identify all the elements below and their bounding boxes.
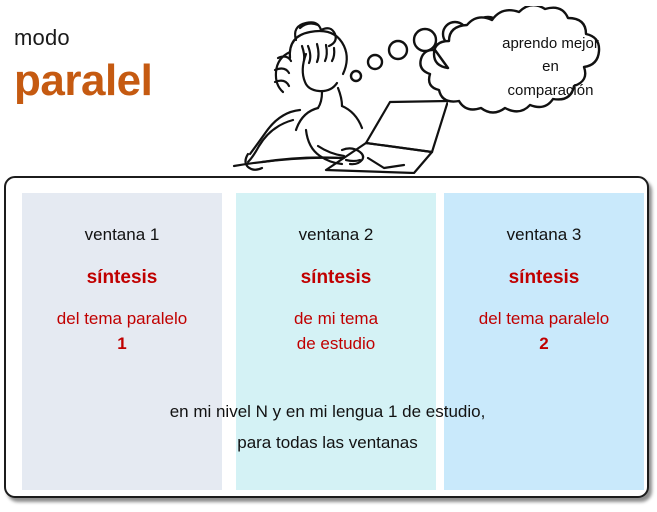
- thought-dot-2: [368, 55, 382, 69]
- windows-columns: ventana 1 síntesis del tema paralelo 1 v…: [22, 193, 633, 490]
- window-column-1-strong: síntesis: [22, 267, 222, 289]
- window-column-2-body: de mi tema de estudio: [236, 307, 436, 356]
- window-column-3-strong: síntesis: [444, 267, 644, 289]
- window-column-1-body: del tema paralelo 1: [22, 307, 222, 356]
- thought-dot-3: [389, 41, 407, 59]
- window-column-2-body-line-2: de estudio: [236, 332, 436, 357]
- window-column-1-heading: ventana 1: [22, 225, 222, 245]
- thought-bubble-line-1: aprendo mejor: [468, 32, 633, 55]
- window-column-2[interactable]: ventana 2 síntesis de mi tema de estudio: [236, 193, 436, 490]
- window-column-2-body-line-1: de mi tema: [236, 307, 436, 332]
- header-area: modo paralel: [0, 0, 657, 175]
- window-column-3[interactable]: ventana 3 síntesis del tema paralelo 2: [444, 193, 644, 490]
- thought-bubble-text: aprendo mejor en comparación: [468, 32, 633, 102]
- window-column-3-body-line-1: del tema paralelo: [444, 307, 644, 332]
- thought-dot-4: [414, 29, 436, 51]
- title-block: modo paralel: [14, 26, 234, 104]
- window-column-2-strong: síntesis: [236, 267, 436, 289]
- mode-value: paralel: [14, 58, 234, 104]
- window-column-3-body: del tema paralelo 2: [444, 307, 644, 356]
- thought-bubble-line-2: en: [468, 55, 633, 78]
- windows-panel: ventana 1 síntesis del tema paralelo 1 v…: [4, 176, 649, 498]
- thought-dot-1: [351, 71, 361, 81]
- window-column-3-body-line-2: 2: [444, 332, 644, 357]
- window-column-3-heading: ventana 3: [444, 225, 644, 245]
- mode-label: modo: [14, 26, 234, 50]
- window-column-1[interactable]: ventana 1 síntesis del tema paralelo 1: [22, 193, 222, 490]
- window-column-1-body-line-2: 1: [22, 332, 222, 357]
- window-column-1-body-line-1: del tema paralelo: [22, 307, 222, 332]
- window-column-2-heading: ventana 2: [236, 225, 436, 245]
- thought-bubble-line-3: comparación: [468, 79, 633, 102]
